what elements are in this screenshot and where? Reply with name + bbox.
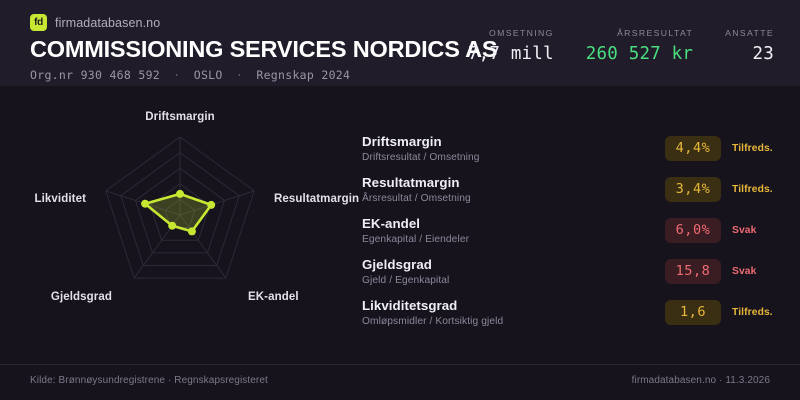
metric-name: Likviditetsgrad [362, 298, 665, 313]
status-badge: Tilfreds. [732, 307, 782, 318]
metric-name: Resultatmargin [362, 175, 665, 190]
stat-arsresultat: ÅRSRESULTAT 260 527 kr [586, 28, 693, 64]
metric-name: Gjeldsgrad [362, 257, 665, 272]
metric-right: 1,6 Tilfreds. [665, 300, 782, 325]
footer-divider [0, 364, 800, 365]
metric-value-badge: 4,4% [665, 136, 721, 161]
firmadatabasen-logo-icon: fd [30, 14, 47, 31]
metric-right: 3,4% Tilfreds. [665, 177, 782, 202]
metric-text: Resultatmargin Årsresultat / Omsetning [362, 175, 665, 204]
stat-value: 7,7 mill [468, 44, 554, 64]
stat-label: OMSETNING [489, 28, 554, 38]
axis-label-ek-andel: EK-andel [248, 291, 299, 303]
metric-name: EK-andel [362, 216, 665, 231]
status-badge: Tilfreds. [732, 143, 782, 154]
metric-row-gjeldsgrad[interactable]: Gjeldsgrad Gjeld / Egenkapital 15,8 Svak [362, 251, 782, 292]
status-badge: Svak [732, 266, 782, 277]
metric-row-resultatmargin[interactable]: Resultatmargin Årsresultat / Omsetning 3… [362, 169, 782, 210]
status-badge: Tilfreds. [732, 184, 782, 195]
status-badge: Svak [732, 225, 782, 236]
company-meta: Org.nr 930 468 592 · OSLO · Regnskap 202… [30, 68, 350, 82]
axis-label-driftsmargin: Driftsmargin [145, 111, 215, 123]
axis-label-likviditet: Likviditet [35, 193, 86, 205]
stat-label: ANSATTE [725, 28, 774, 38]
meta-separator-1: · [167, 68, 186, 82]
header-bar: fd firmadatabasen.no COMMISSIONING SERVI… [0, 0, 800, 86]
metric-right: 4,4% Tilfreds. [665, 136, 782, 161]
radar-chart: Driftsmargin Resultatmargin EK-andel Gje… [0, 86, 350, 346]
header-stats: OMSETNING 7,7 mill ÅRSRESULTAT 260 527 k… [468, 28, 774, 64]
footer-credit: firmadatabasen.no · 11.3.2026 [632, 375, 770, 386]
metric-right: 6,0% Svak [665, 218, 782, 243]
metric-formula: Driftsresultat / Omsetning [362, 152, 665, 163]
radar-chart-svg [0, 86, 350, 346]
stat-value: 23 [753, 44, 774, 64]
accounting-year: Regnskap 2024 [256, 68, 350, 82]
metric-row-likviditetsgrad[interactable]: Likviditetsgrad Omløpsmidler / Kortsikti… [362, 292, 782, 333]
metric-text: Gjeldsgrad Gjeld / Egenkapital [362, 257, 665, 286]
metrics-list: Driftsmargin Driftsresultat / Omsetning … [362, 128, 782, 333]
metric-text: Driftsmargin Driftsresultat / Omsetning [362, 134, 665, 163]
meta-separator-2: · [230, 68, 249, 82]
metric-text: EK-andel Egenkapital / Eiendeler [362, 216, 665, 245]
metric-right: 15,8 Svak [665, 259, 782, 284]
metric-value-badge: 1,6 [665, 300, 721, 325]
footer-source: Kilde: Brønnøysundregistrene · Regnskaps… [30, 375, 268, 386]
stat-value: 260 527 kr [586, 44, 693, 64]
page-title: COMMISSIONING SERVICES NORDICS AS [30, 36, 497, 63]
metric-text: Likviditetsgrad Omløpsmidler / Kortsikti… [362, 298, 665, 327]
metric-formula: Gjeld / Egenkapital [362, 275, 665, 286]
metric-formula: Omløpsmidler / Kortsiktig gjeld [362, 316, 665, 327]
org-number: Org.nr 930 468 592 [30, 68, 160, 82]
axis-label-gjeldsgrad: Gjeldsgrad [51, 291, 112, 303]
metric-formula: Egenkapital / Eiendeler [362, 234, 665, 245]
metric-value-badge: 3,4% [665, 177, 721, 202]
metric-value-badge: 15,8 [665, 259, 721, 284]
metric-value-badge: 6,0% [665, 218, 721, 243]
metric-row-driftsmargin[interactable]: Driftsmargin Driftsresultat / Omsetning … [362, 128, 782, 169]
metric-name: Driftsmargin [362, 134, 665, 149]
stat-ansatte: ANSATTE 23 [725, 28, 774, 64]
brand[interactable]: fd firmadatabasen.no [30, 14, 160, 31]
stat-omsetning: OMSETNING 7,7 mill [468, 28, 554, 64]
company-city: OSLO [194, 68, 223, 82]
brand-name: firmadatabasen.no [55, 16, 160, 30]
report-card: fd firmadatabasen.no COMMISSIONING SERVI… [0, 0, 800, 400]
stat-label: ÅRSRESULTAT [617, 28, 693, 38]
metric-row-ek-andel[interactable]: EK-andel Egenkapital / Eiendeler 6,0% Sv… [362, 210, 782, 251]
axis-label-resultatmargin: Resultatmargin [274, 193, 359, 205]
metric-formula: Årsresultat / Omsetning [362, 193, 665, 204]
